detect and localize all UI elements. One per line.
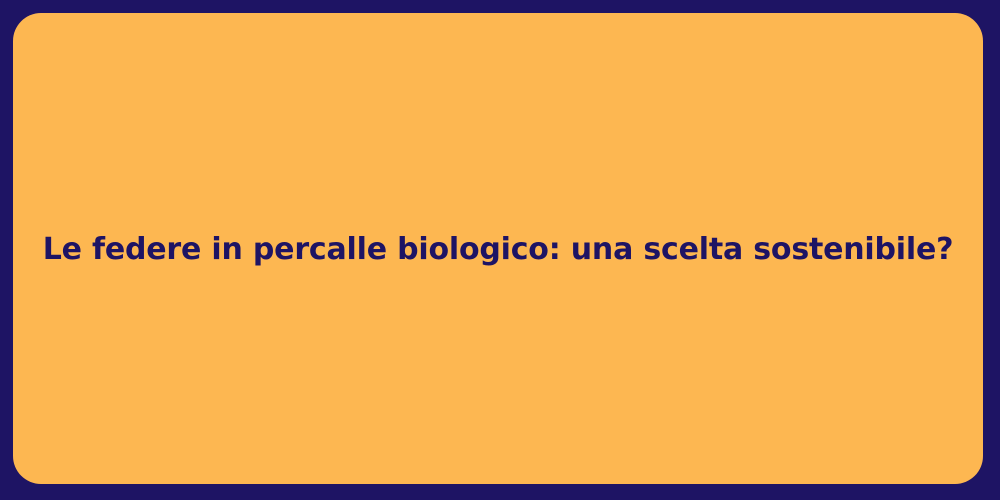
banner-title: Le federe in percalle biologico: una sce… xyxy=(13,231,983,269)
banner-frame: Le federe in percalle biologico: una sce… xyxy=(0,0,1000,500)
banner-card: Le federe in percalle biologico: una sce… xyxy=(13,13,983,484)
